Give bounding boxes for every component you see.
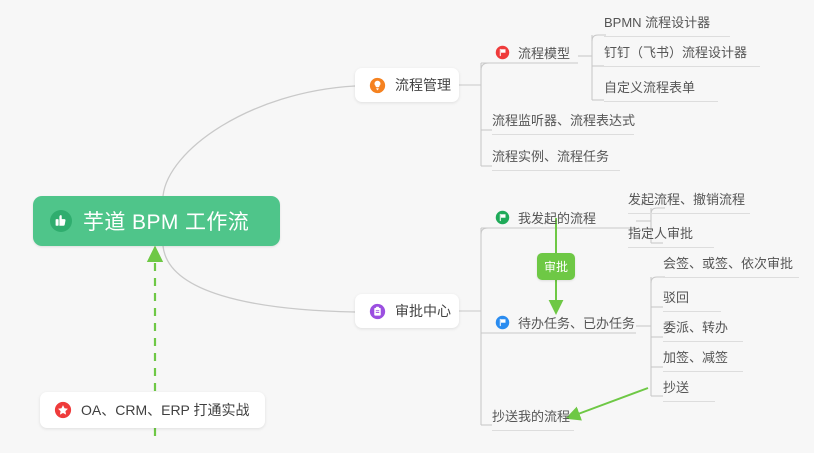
clipboard-icon [369, 303, 386, 320]
flag-green-icon [495, 210, 510, 225]
leaf-bpmn-designer[interactable]: BPMN 流程设计器 [604, 12, 730, 37]
footnote-node[interactable]: OA、CRM、ERP 打通实战 [40, 392, 265, 428]
leaf-flow-instance[interactable]: 流程实例、流程任务 [492, 146, 620, 171]
leaf-assignee-approve[interactable]: 指定人审批 [628, 223, 714, 248]
leaf-add-remove-sign[interactable]: 加签、减签 [663, 347, 743, 372]
leaf-start-cancel[interactable]: 发起流程、撤销流程 [628, 189, 750, 214]
node-label-my-started-flows: 我发起的流程 [518, 208, 596, 227]
leaf-custom-form[interactable]: 自定义流程表单 [604, 77, 718, 102]
node-todo-done-tasks[interactable]: 待办任务、已办任务 [495, 313, 635, 332]
leaf-cc[interactable]: 抄送 [663, 377, 715, 402]
branch-node-flow-management[interactable]: 流程管理 [355, 68, 459, 102]
node-label-todo-done-tasks: 待办任务、已办任务 [518, 313, 635, 332]
leaf-countersign[interactable]: 会签、或签、依次审批 [663, 253, 799, 278]
leaf-reject[interactable]: 驳回 [663, 287, 721, 312]
root-label: 芋道 BPM 工作流 [83, 206, 249, 236]
thumbs-up-icon [49, 209, 73, 233]
leaf-dingtalk-designer[interactable]: 钉钉（飞书）流程设计器 [604, 42, 760, 67]
leaf-cc-to-me[interactable]: 抄送我的流程 [492, 406, 574, 431]
node-my-started-flows[interactable]: 我发起的流程 [495, 208, 596, 227]
lightbulb-icon [369, 77, 386, 94]
root-node[interactable]: 芋道 BPM 工作流 [33, 196, 280, 246]
mindmap-canvas: 芋道 BPM 工作流 流程管理 审批中心 [0, 0, 814, 453]
node-flow-model[interactable]: 流程模型 [495, 43, 570, 62]
footnote-label: OA、CRM、ERP 打通实战 [81, 400, 250, 420]
leaf-flow-listener[interactable]: 流程监听器、流程表达式 [492, 110, 634, 135]
node-label-flow-model: 流程模型 [518, 43, 570, 62]
flag-blue-icon [495, 315, 510, 330]
leaf-delegate-transfer[interactable]: 委派、转办 [663, 317, 743, 342]
branch-label-flow-management: 流程管理 [395, 75, 451, 95]
star-icon [54, 401, 72, 419]
branch-node-approval-center[interactable]: 审批中心 [355, 294, 459, 328]
branch-label-approval-center: 审批中心 [395, 301, 451, 321]
flag-red-icon [495, 45, 510, 60]
annotation-tag-approve: 审批 [537, 253, 575, 280]
